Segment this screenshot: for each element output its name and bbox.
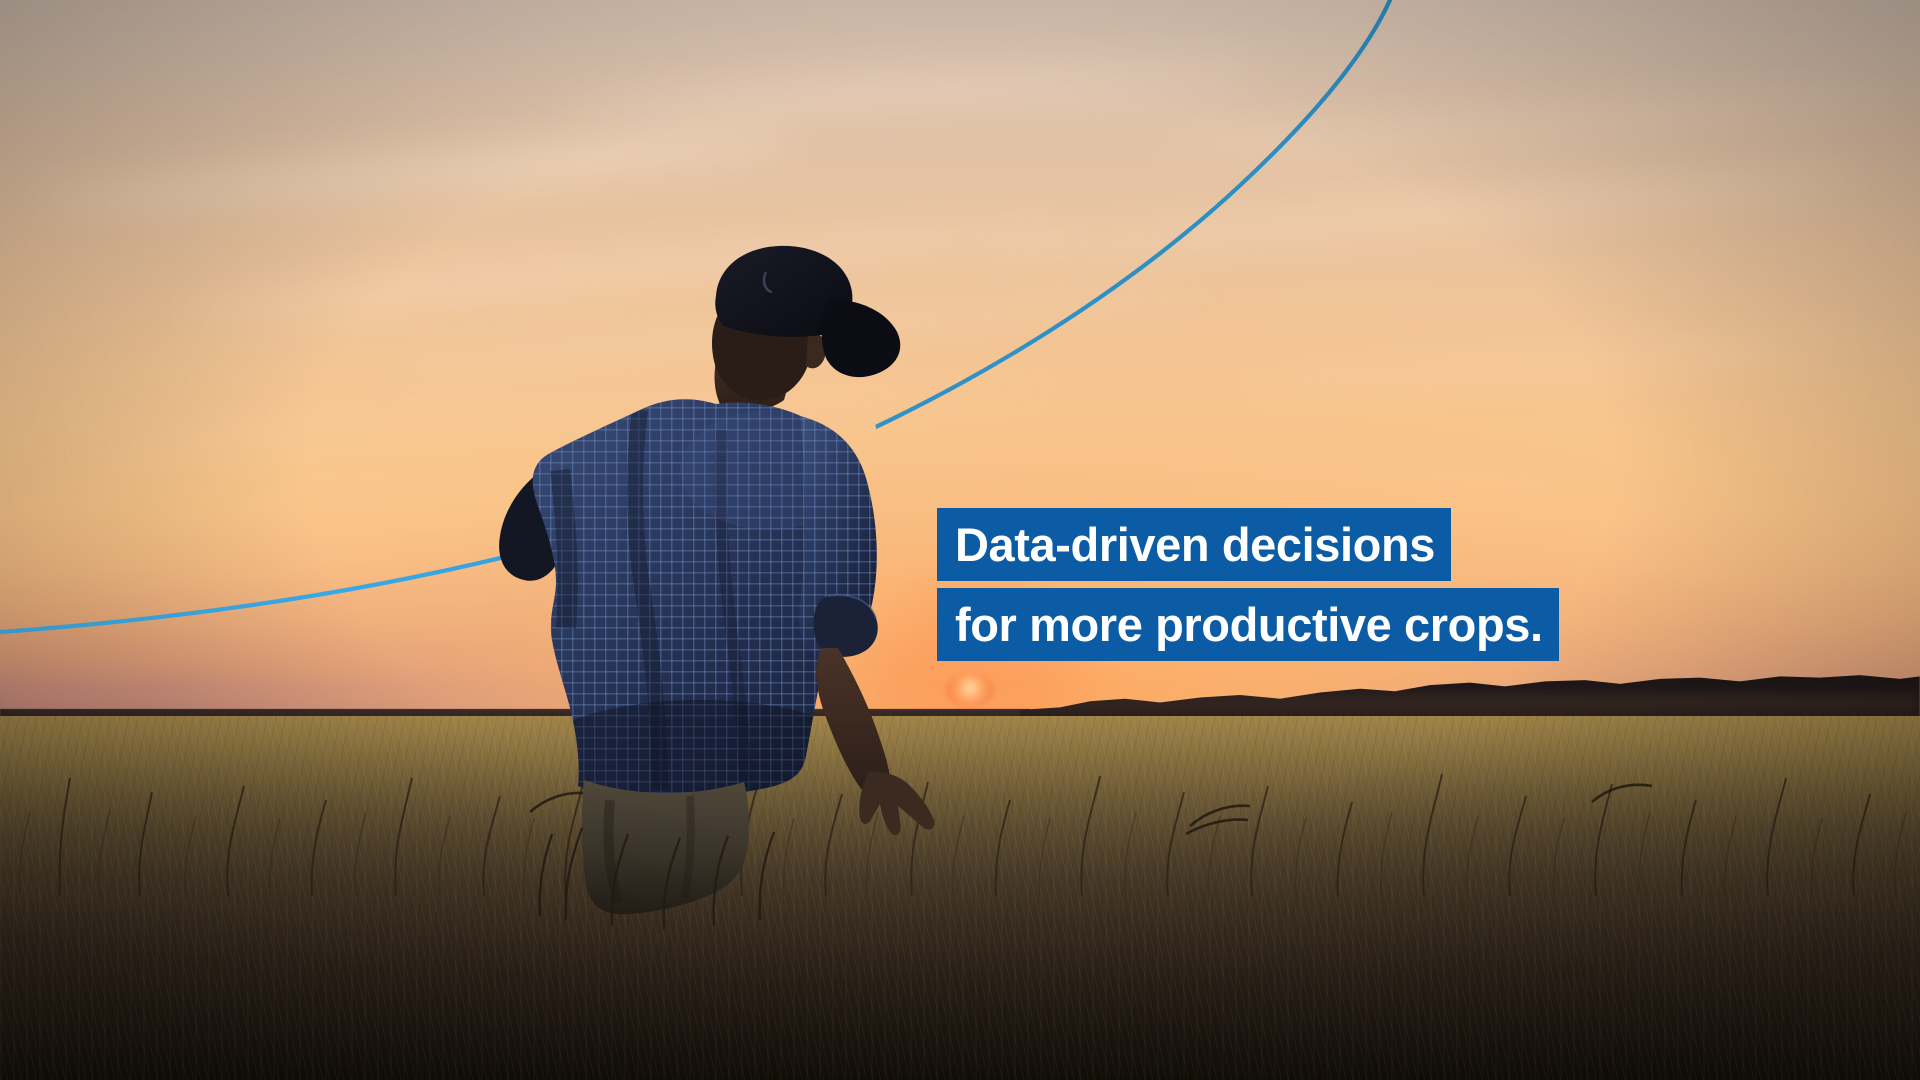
hero-banner: Data-driven decisions for more productiv… (0, 0, 1920, 1080)
headline-block: Data-driven decisions for more productiv… (937, 508, 1559, 661)
headline-line-2: for more productive crops. (937, 588, 1559, 661)
headline-line-1: Data-driven decisions (937, 508, 1451, 581)
wheat-field (0, 716, 1920, 1080)
